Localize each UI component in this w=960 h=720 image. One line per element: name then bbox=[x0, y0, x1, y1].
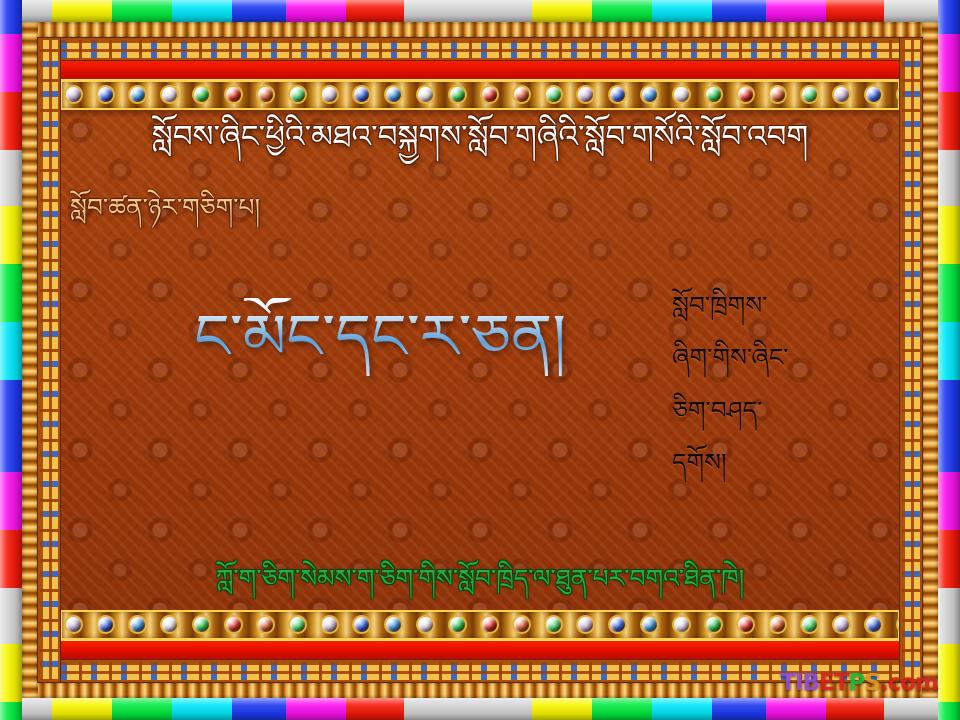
jewel-dot bbox=[770, 617, 785, 632]
right-column-line: དགོས། bbox=[672, 447, 882, 478]
jewel-dot bbox=[354, 87, 369, 102]
jewel-dot bbox=[386, 617, 401, 632]
meander-border-right bbox=[900, 38, 922, 682]
jewel-dot bbox=[450, 617, 465, 632]
right-column-line: སློབ་ཁྲིགས་ bbox=[672, 290, 882, 321]
jewel-dot bbox=[578, 617, 593, 632]
watermark-part: TIB bbox=[780, 670, 819, 696]
jewel-dot bbox=[322, 617, 337, 632]
jewel-dot bbox=[578, 87, 593, 102]
jewel-dot bbox=[66, 617, 81, 632]
jewel-dot bbox=[290, 87, 305, 102]
jewel-dot bbox=[258, 87, 273, 102]
jewel-dot bbox=[674, 617, 689, 632]
jewel-dot bbox=[802, 87, 817, 102]
watermark-part: P bbox=[848, 670, 864, 696]
jewel-dot bbox=[418, 87, 433, 102]
jewel-dot bbox=[610, 87, 625, 102]
jewel-dot bbox=[98, 617, 113, 632]
jewel-dot bbox=[130, 87, 145, 102]
right-column-line: ཅིག་བཤད་ bbox=[672, 395, 882, 426]
jewel-dot bbox=[738, 617, 753, 632]
main-title: ང་མོང་དང་ར་ཅན། bbox=[70, 298, 690, 376]
jewel-dot bbox=[482, 617, 497, 632]
jewel-dot bbox=[610, 617, 625, 632]
presentation-slide: སློབས་ཞིང་ཕྱིའི་མཐའ་བསྐྱགས་སློབ་གཞིའི་སླ… bbox=[0, 0, 960, 720]
jewel-dot bbox=[866, 87, 881, 102]
jewel-dot bbox=[162, 617, 177, 632]
jewel-dot bbox=[194, 617, 209, 632]
watermark-part: ET bbox=[819, 670, 848, 696]
jewel-dot bbox=[418, 617, 433, 632]
rainbow-border-bottom bbox=[0, 698, 960, 720]
jewel-dot bbox=[738, 87, 753, 102]
jewel-dot bbox=[706, 87, 721, 102]
jewel-dot bbox=[98, 87, 113, 102]
jewel-dot bbox=[66, 87, 81, 102]
jewel-dot bbox=[130, 617, 145, 632]
gem-row-bottom bbox=[66, 617, 900, 632]
slide-header-title: སློབས་ཞིང་ཕྱིའི་མཐའ་བསྐྱགས་སློབ་གཞིའི་སླ… bbox=[60, 118, 900, 157]
right-column-line: ཞིག་གིས་ཞིང་ bbox=[672, 342, 882, 373]
footer-caption: ཀློ་ག་ཅིག་སེམས་ག་ཅིག་གིས་སློབ་ཁྲིད་ལ་ཐུན… bbox=[60, 563, 900, 594]
jewel-dot bbox=[290, 617, 305, 632]
jewel-dot bbox=[770, 87, 785, 102]
meander-border-top bbox=[38, 38, 922, 60]
jewel-dot bbox=[674, 87, 689, 102]
site-watermark: TIBETPS.com bbox=[780, 670, 938, 696]
jewel-dot bbox=[482, 87, 497, 102]
watermark-part: .com bbox=[880, 670, 938, 696]
rainbow-border-left bbox=[0, 0, 22, 720]
red-band-bottom bbox=[60, 640, 900, 660]
rainbow-border-top bbox=[0, 0, 960, 22]
jewel-dot bbox=[834, 87, 849, 102]
lesson-subtitle: སློབ་ཚན་ཉེར་གཅིག་པ། bbox=[70, 192, 260, 223]
jewel-dot bbox=[802, 617, 817, 632]
jewel-dot bbox=[514, 617, 529, 632]
jewel-dot bbox=[386, 87, 401, 102]
filigree-border-top bbox=[22, 22, 938, 38]
gem-row-top bbox=[66, 87, 900, 102]
red-band-top bbox=[60, 60, 900, 80]
jewel-dot bbox=[706, 617, 721, 632]
rainbow-border-right bbox=[938, 0, 960, 720]
jewel-dot bbox=[450, 87, 465, 102]
jewel-dot bbox=[226, 87, 241, 102]
jewel-dot bbox=[258, 617, 273, 632]
jewel-dot bbox=[226, 617, 241, 632]
jewel-dot bbox=[546, 87, 561, 102]
jewel-dot bbox=[194, 87, 209, 102]
jewel-band-top bbox=[60, 80, 900, 110]
jewel-dot bbox=[866, 617, 881, 632]
jewel-dot bbox=[514, 87, 529, 102]
filigree-border-right bbox=[922, 22, 938, 698]
jewel-dot bbox=[546, 617, 561, 632]
jewel-band-bottom bbox=[60, 610, 900, 640]
jewel-dot bbox=[642, 87, 657, 102]
meander-border-left bbox=[38, 38, 60, 682]
right-text-column: སློབ་ཁྲིགས་ ཞིག་གིས་ཞིང་ ཅིག་བཤད་ དགོས། bbox=[672, 290, 882, 499]
filigree-border-left bbox=[22, 22, 38, 698]
jewel-dot bbox=[642, 617, 657, 632]
content-panel: སློབས་ཞིང་ཕྱིའི་མཐའ་བསྐྱགས་སློབ་གཞིའི་སླ… bbox=[60, 110, 900, 610]
jewel-dot bbox=[354, 617, 369, 632]
watermark-part: S bbox=[864, 670, 880, 696]
jewel-dot bbox=[834, 617, 849, 632]
jewel-dot bbox=[162, 87, 177, 102]
jewel-dot bbox=[322, 87, 337, 102]
